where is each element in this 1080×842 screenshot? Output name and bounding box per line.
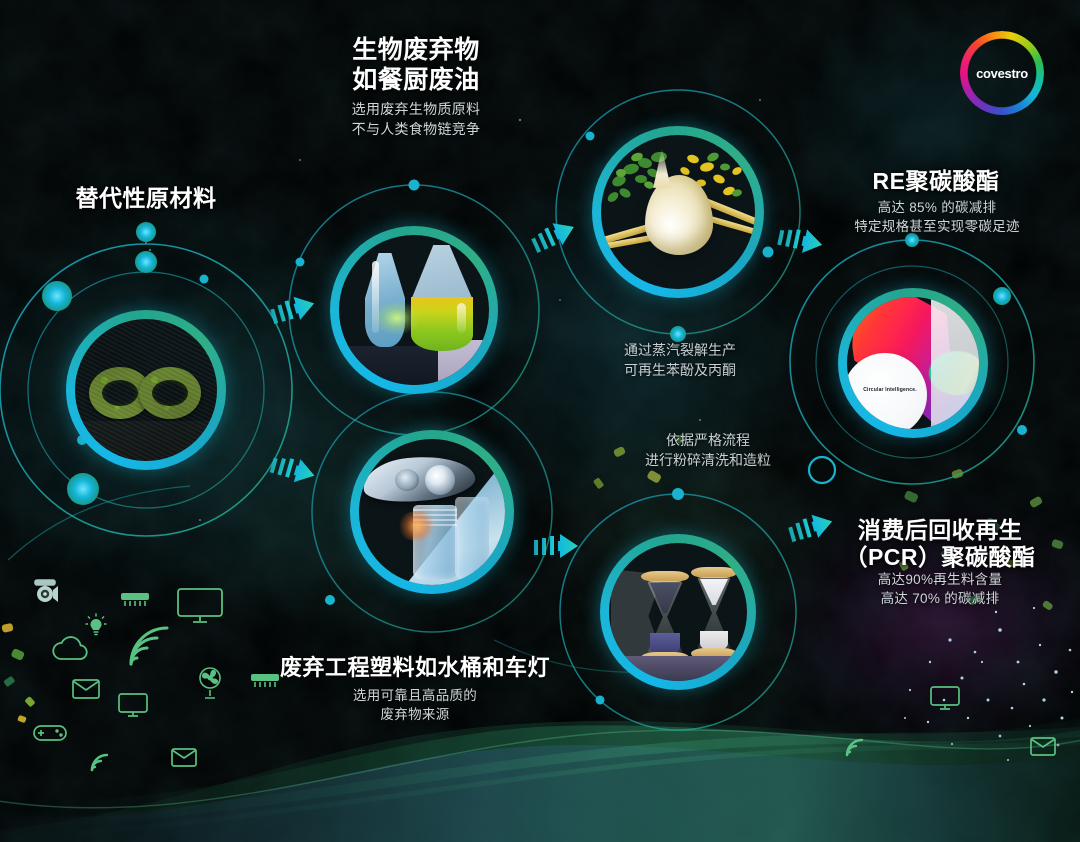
envelope-bottom-icon: [171, 748, 197, 767]
caption-grinding: 依据严格流程 进行粉碎清洗和造粒: [618, 430, 798, 471]
fan-icon: [196, 667, 224, 699]
subtitle-waste-engineering-plastics: 选用可靠且高品质的 废弃物来源: [270, 686, 560, 724]
title-re-polycarbonate: RE聚碳酸酯: [838, 168, 1034, 195]
lightbulb-icon: [85, 613, 107, 637]
title-bio-waste: 生物废弃物 如餐厨废油: [300, 36, 532, 95]
monitor-small-icon: [118, 693, 148, 717]
monitor-right-icon: [930, 686, 960, 710]
monitor-icon: [177, 588, 223, 624]
title-waste-engineering-plastics: 废弃工程塑料如水桶和车灯: [250, 655, 580, 681]
wifi-right-icon: [845, 733, 867, 757]
title-alternative-raw-materials: 替代性原材料: [26, 185, 266, 212]
covestro-logo[interactable]: covestro: [960, 31, 1044, 115]
wifi-small-icon: [90, 748, 112, 772]
covestro-wordmark: covestro: [960, 31, 1044, 115]
arrow-raw-to-waste: [269, 452, 318, 487]
gamepad-icon: [33, 723, 67, 743]
infographic-canvas: Circular Intelligence.: [0, 0, 1080, 842]
caption-steam-cracking: 通过蒸汽裂解生产 可再生苯酚及丙酮: [590, 340, 770, 381]
security-camera-icon: [30, 578, 64, 606]
cloud-icon: [50, 635, 94, 661]
subtitle-re-polycarbonate: 高达 85% 的碳减排 特定规格甚至实现零碳足迹: [818, 198, 1056, 236]
air-conditioner-icon: [120, 592, 150, 608]
arrow-waste-to-granulate: [534, 534, 578, 558]
envelope-icon: [72, 679, 100, 699]
subtitle-bio-waste: 选用废弃生物质原料 不与人类食物链竞争: [300, 100, 532, 140]
subtitle-pcr-polycarbonate: 高达90%再生料含量 高达 70% 的碳减排: [820, 570, 1060, 608]
title-pcr-polycarbonate: 消费后回收再生 （PCR）聚碳酸酯: [820, 517, 1060, 571]
envelope-right-icon: [1030, 737, 1056, 756]
arrow-bio-to-oil: [529, 216, 579, 256]
air-conditioner-right-icon: [250, 673, 280, 689]
wifi-icon: [127, 620, 173, 668]
arrow-raw-to-bio: [269, 292, 318, 327]
